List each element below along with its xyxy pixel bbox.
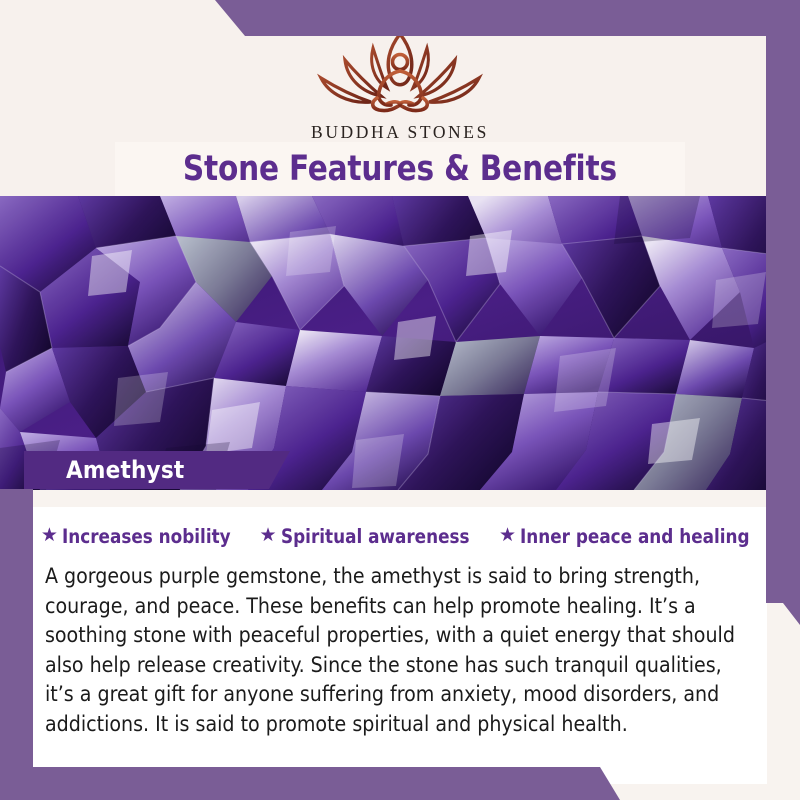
frame-left-bar xyxy=(0,489,33,800)
product-info-card: BUDDHA STONES Stone Features & Benefits … xyxy=(0,0,800,800)
brand-name: BUDDHA STONES xyxy=(0,122,800,143)
star-icon: ★ xyxy=(499,526,516,545)
feature-item: ★ Spiritual awareness xyxy=(260,525,477,548)
feature-item: ★ Increases nobility xyxy=(41,525,238,548)
stone-name: Amethyst xyxy=(66,456,184,484)
content-inner: ★ Increases nobility ★ Spiritual awarene… xyxy=(33,507,767,784)
amethyst-photo xyxy=(0,196,800,490)
feature-label: Increases nobility xyxy=(62,525,231,548)
feature-item: ★ Inner peace and healing xyxy=(499,525,759,548)
content-panel: ★ Increases nobility ★ Spiritual awarene… xyxy=(0,490,800,800)
frame-right-bar xyxy=(766,0,800,625)
lotus-meditation-figure-icon xyxy=(311,26,489,118)
star-icon: ★ xyxy=(260,526,277,545)
feature-label: Spiritual awareness xyxy=(281,525,470,548)
stone-name-banner: Amethyst xyxy=(24,451,290,489)
feature-list: ★ Increases nobility ★ Spiritual awarene… xyxy=(33,507,767,548)
feature-label: Inner peace and healing xyxy=(520,525,750,548)
star-icon: ★ xyxy=(41,526,58,545)
stone-description: A gorgeous purple gemstone, the amethyst… xyxy=(43,562,746,739)
page-title: Stone Features & Benefits xyxy=(183,149,617,189)
title-band: Stone Features & Benefits xyxy=(115,142,685,196)
brand-logo: BUDDHA STONES xyxy=(0,26,800,143)
